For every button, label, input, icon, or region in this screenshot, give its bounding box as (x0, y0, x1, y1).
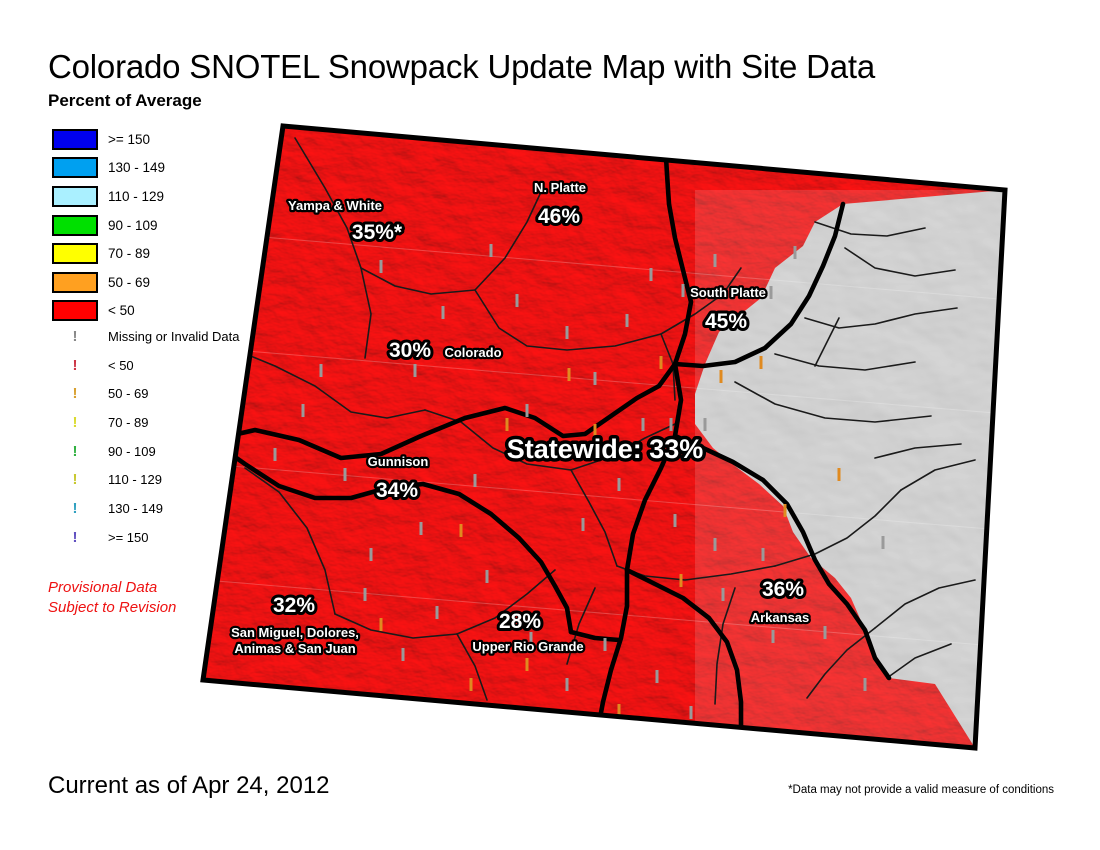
legend-label: < 50 (108, 303, 135, 318)
basin-percent-n-platte: 46% (538, 205, 580, 228)
legend-site-label: < 50 (108, 358, 134, 373)
basin-percent-san-juan: 32% (273, 594, 315, 617)
site-marker-icon: ! (52, 329, 98, 344)
site-marker-icon: ! (52, 386, 98, 401)
site-marker-icon: ! (52, 444, 98, 459)
site-marker-icon: ! (52, 501, 98, 516)
basin-percent-colorado: 30% (389, 339, 431, 362)
legend-site-label: 90 - 109 (108, 444, 156, 459)
colorado-snotel-map[interactable]: Yampa & White 35%* N. Platte 46% South P… (175, 118, 1020, 758)
legend-label: 90 - 109 (108, 218, 158, 233)
site-marker-icon: ! (52, 472, 98, 487)
basin-label-san-juan-line1: San Miguel, Dolores, (231, 625, 359, 640)
basin-label-arkansas: Arkansas (751, 610, 810, 625)
basin-label-gunnison: Gunnison (368, 454, 429, 469)
basin-percent-upper-rio-grande: 28% (499, 610, 541, 633)
basin-label-san-juan-line2: Animas & San Juan (234, 641, 355, 656)
legend-site-label: 130 - 149 (108, 501, 163, 516)
current-as-of-date: Current as of Apr 24, 2012 (48, 772, 330, 800)
legend-swatch (52, 300, 98, 321)
legend-label: 50 - 69 (108, 275, 150, 290)
statewide-percent-label: Statewide: 33% (507, 434, 704, 464)
basin-label-upper-rio-grande: Upper Rio Grande (472, 639, 583, 654)
legend-site-label: >= 150 (108, 530, 149, 545)
page-subtitle: Percent of Average (48, 91, 202, 111)
basin-percent-yampa-white: 35%* (352, 221, 403, 244)
page-title: Colorado SNOTEL Snowpack Update Map with… (48, 48, 875, 86)
provisional-line-2: Subject to Revision (48, 598, 176, 618)
legend-site-label: 110 - 129 (108, 472, 162, 487)
legend-swatch (52, 215, 98, 236)
site-marker-icon: ! (52, 415, 98, 430)
basin-label-colorado: Colorado (444, 345, 501, 360)
legend-swatch (52, 272, 98, 293)
basin-percent-arkansas: 36% (762, 578, 804, 601)
basin-percent-south-platte: 45% (705, 310, 747, 333)
footer-disclaimer: *Data may not provide a valid measure of… (788, 784, 1054, 796)
legend-swatch (52, 243, 98, 264)
provisional-data-note: Provisional Data Subject to Revision (48, 578, 176, 619)
legend-label: 130 - 149 (108, 160, 165, 175)
legend-swatch (52, 129, 98, 150)
legend-swatch (52, 186, 98, 207)
legend-label: 70 - 89 (108, 246, 150, 261)
legend-site-label: 70 - 89 (108, 415, 148, 430)
legend-label: 110 - 129 (108, 189, 164, 204)
legend-swatch (52, 157, 98, 178)
basin-label-south-platte: South Platte (690, 285, 766, 300)
site-marker-icon: ! (52, 530, 98, 545)
basin-label-n-platte: N. Platte (534, 180, 586, 195)
basin-label-yampa-white: Yampa & White (288, 198, 382, 213)
legend-label: >= 150 (108, 132, 150, 147)
basin-percent-gunnison: 34% (376, 479, 418, 502)
provisional-line-1: Provisional Data (48, 578, 176, 598)
site-marker-icon: ! (52, 358, 98, 373)
legend-site-label: 50 - 69 (108, 386, 148, 401)
